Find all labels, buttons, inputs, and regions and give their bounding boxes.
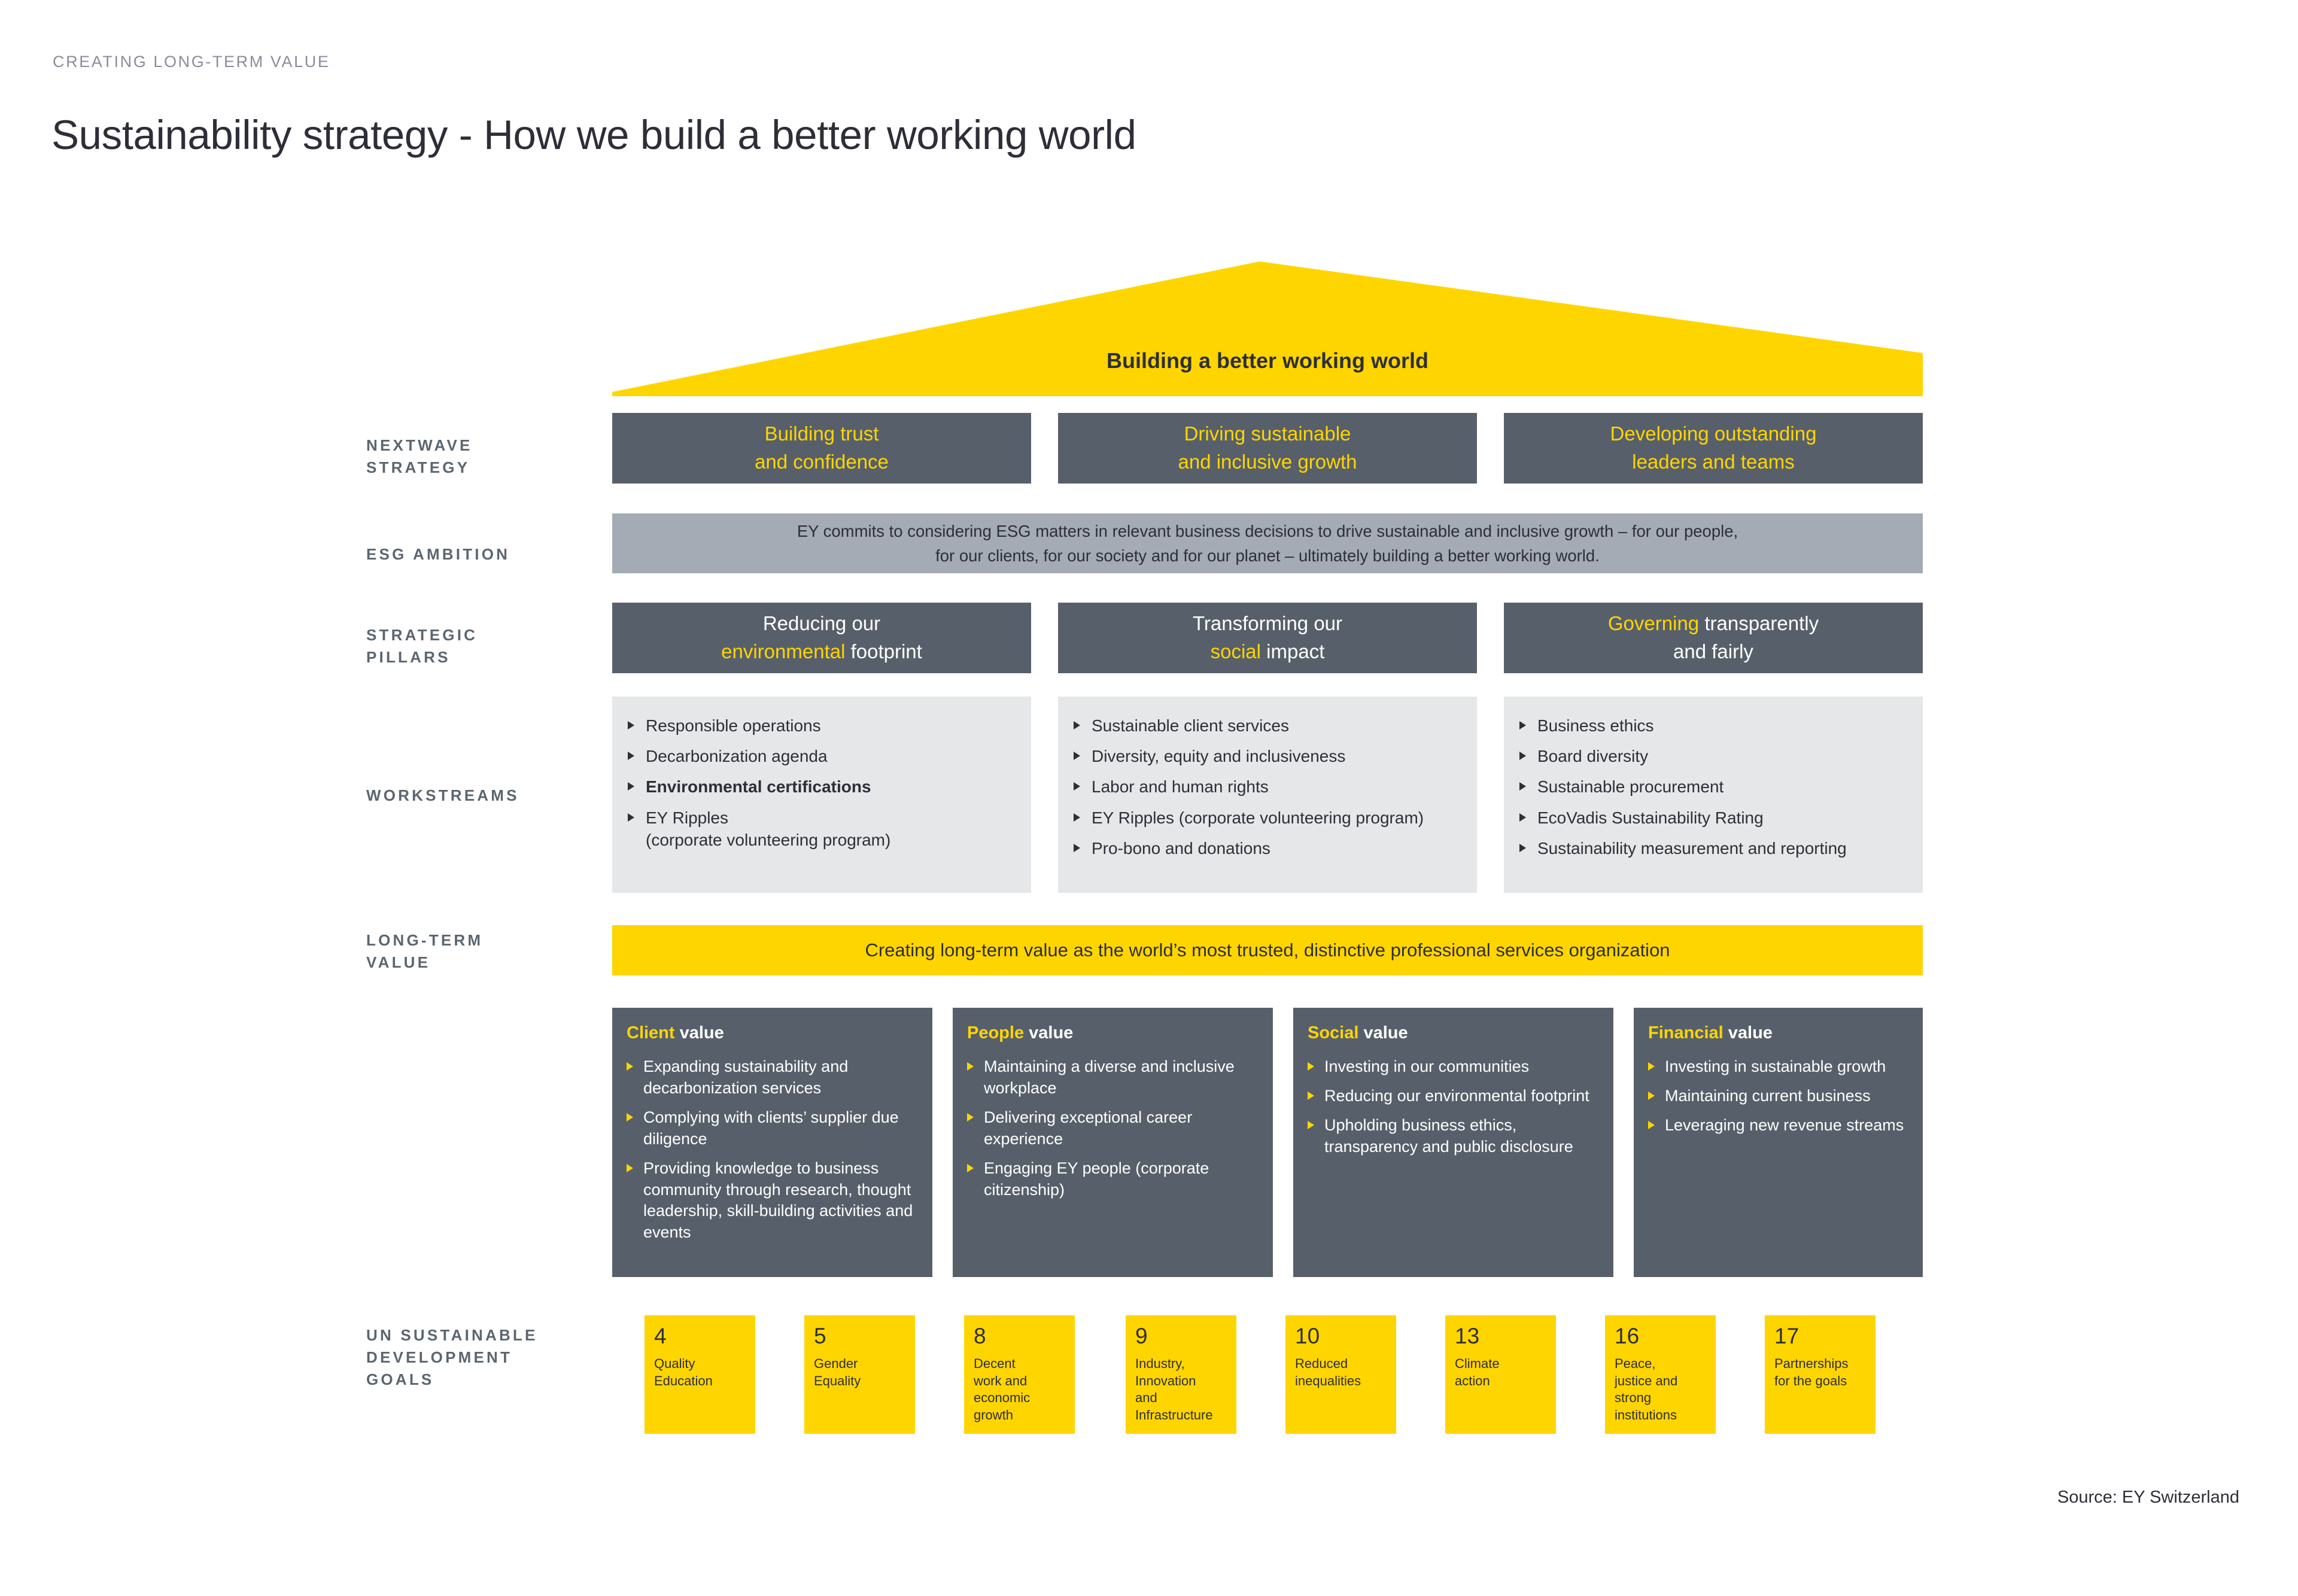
value-item-label: Investing in sustainable growth <box>1665 1057 1886 1075</box>
value-item-label: Maintaining current business <box>1665 1087 1871 1105</box>
value-card-people[interactable]: People value Maintaining a diverse and i… <box>953 1008 1273 1277</box>
sdg-label: Partnerships for the goals <box>1774 1355 1867 1390</box>
bullet-triangle-icon <box>967 1113 974 1121</box>
bullet-triangle-icon <box>1074 813 1080 822</box>
nextwave-box-2-line1: Driving sustainable <box>1184 422 1351 445</box>
value-card-client[interactable]: Client value Expanding sustainability an… <box>612 1008 932 1277</box>
bullet-triangle-icon <box>628 813 634 822</box>
value-card-client-suffix: value <box>675 1023 724 1042</box>
sdg-number: 8 <box>974 1325 1066 1347</box>
workstream-item[interactable]: Decarbonization agenda <box>628 745 1016 767</box>
workstream-item[interactable]: Board diversity <box>1519 745 1907 767</box>
bullet-triangle-icon <box>1308 1092 1314 1100</box>
bullet-triangle-icon <box>1519 782 1526 791</box>
value-item-label: Reducing our environmental footprint <box>1324 1087 1589 1105</box>
nextwave-box-1-line2: and confidence <box>755 451 889 473</box>
sdg-tile-4[interactable]: 4 Quality Education <box>645 1315 755 1434</box>
workstream-item[interactable]: Business ethics <box>1519 715 1907 737</box>
strategic-pillar-1[interactable]: Reducing our environmental footprint <box>612 603 1031 673</box>
sdg-tile-5[interactable]: 5 Gender Equality <box>804 1315 915 1434</box>
pillar-2-line1: Transforming our <box>1193 612 1342 634</box>
bullet-triangle-icon <box>1074 721 1080 729</box>
list-item: Investing in sustainable growth <box>1648 1056 1908 1078</box>
bullet-triangle-icon <box>1308 1062 1314 1071</box>
value-item-label: Expanding sustainability and decarboniza… <box>643 1057 848 1097</box>
value-card-client-list: Expanding sustainability and decarboniza… <box>627 1056 918 1244</box>
value-card-financial-title: Financial value <box>1648 1023 1908 1043</box>
value-card-people-key: People <box>967 1023 1024 1042</box>
bullet-triangle-icon <box>1519 752 1526 760</box>
workstream-label: EcoVadis Sustainability Rating <box>1537 808 1764 827</box>
value-card-financial[interactable]: Financial value Investing in sustainable… <box>1634 1008 1923 1277</box>
strategic-pillar-2[interactable]: Transforming our social impact <box>1058 603 1477 673</box>
workstream-label: Pro-bono and donations <box>1092 839 1270 858</box>
bullet-triangle-icon <box>627 1062 633 1071</box>
roof-shape: Building a better working world <box>612 257 1923 396</box>
workstream-item[interactable]: EY Ripples (corporate volunteering progr… <box>628 807 1016 851</box>
bullet-triangle-icon <box>628 721 634 729</box>
value-card-financial-key: Financial <box>1648 1023 1723 1042</box>
list-item: Providing knowledge to business communit… <box>627 1158 918 1244</box>
bullet-triangle-icon <box>1648 1092 1655 1100</box>
sdg-label: Decent work and economic growth <box>974 1355 1066 1424</box>
sdg-label: Reduced inequalities <box>1295 1355 1388 1390</box>
value-card-financial-suffix: value <box>1723 1023 1773 1042</box>
list-item: Delivering exceptional career experience <box>967 1107 1259 1150</box>
value-card-people-suffix: value <box>1024 1023 1073 1042</box>
workstreams-column-3: Business ethics Board diversity Sustaina… <box>1504 697 1923 893</box>
bullet-triangle-icon <box>1074 782 1080 791</box>
bullet-triangle-icon <box>627 1164 633 1172</box>
sdg-tile-17[interactable]: 17 Partnerships for the goals <box>1765 1315 1876 1434</box>
sdg-label: Peace, justice and strong institutions <box>1615 1355 1707 1424</box>
row-label-nextwave-strategy: NEXTWAVE STRATEGY <box>366 434 606 479</box>
workstream-label: Sustainable client services <box>1092 716 1289 735</box>
workstreams-list-3: Business ethics Board diversity Sustaina… <box>1519 715 1907 859</box>
long-term-value-text: Creating long-term value as the world’s … <box>612 925 1923 975</box>
value-card-client-key: Client <box>627 1023 675 1042</box>
workstream-item[interactable]: Diversity, equity and inclusiveness <box>1074 745 1461 767</box>
pillar-2-highlight: social <box>1211 640 1261 662</box>
bullet-triangle-icon <box>1519 721 1526 729</box>
workstreams-column-2: Sustainable client services Diversity, e… <box>1058 697 1477 893</box>
workstream-item[interactable]: Labor and human rights <box>1074 776 1461 798</box>
bullet-triangle-icon <box>967 1164 974 1172</box>
value-card-social-list: Investing in our communities Reducing ou… <box>1308 1056 1599 1158</box>
row-label-un-sdg: UN SUSTAINABLE DEVELOPMENT GOALS <box>366 1324 606 1391</box>
bullet-triangle-icon <box>1519 813 1526 822</box>
bullet-triangle-icon <box>628 782 634 791</box>
workstream-item[interactable]: Sustainability measurement and reporting <box>1519 837 1907 859</box>
nextwave-box-2[interactable]: Driving sustainable and inclusive growth <box>1058 413 1477 484</box>
workstream-item[interactable]: Environmental certifications <box>628 776 1016 798</box>
value-card-client-title: Client value <box>627 1023 918 1043</box>
workstreams-list-1: Responsible operations Decarbonization a… <box>628 715 1016 851</box>
workstream-label: Board diversity <box>1537 747 1648 765</box>
list-item: Reducing our environmental footprint <box>1308 1086 1599 1107</box>
value-card-social-suffix: value <box>1358 1023 1408 1042</box>
roof-polygon-main <box>612 262 1923 396</box>
sdg-number: 10 <box>1295 1325 1388 1347</box>
nextwave-box-3[interactable]: Developing outstanding leaders and teams <box>1504 413 1923 484</box>
sdg-tile-8[interactable]: 8 Decent work and economic growth <box>964 1315 1075 1434</box>
workstream-item[interactable]: Sustainable procurement <box>1519 776 1907 798</box>
value-card-social-key: Social <box>1308 1023 1358 1042</box>
esg-ambition-line2: for our clients, for our society and for… <box>935 546 1600 565</box>
value-item-label: Leveraging new revenue streams <box>1665 1116 1904 1134</box>
sdg-label: Industry, Innovation and Infrastructure <box>1135 1355 1228 1424</box>
workstream-item[interactable]: EcoVadis Sustainability Rating <box>1519 807 1907 829</box>
sdg-tile-10[interactable]: 10 Reduced inequalities <box>1285 1315 1396 1434</box>
pillar-1-highlight: environmental <box>721 640 845 662</box>
workstream-label: Responsible operations <box>646 716 821 735</box>
workstreams-list-2: Sustainable client services Diversity, e… <box>1074 715 1461 859</box>
row-label-long-term-value: LONG-TERM VALUE <box>366 929 606 974</box>
pillar-3-line2: and fairly <box>1673 640 1753 662</box>
bullet-triangle-icon <box>1074 752 1080 760</box>
nextwave-box-1[interactable]: Building trust and confidence <box>612 413 1031 484</box>
value-item-label: Maintaining a diverse and inclusive work… <box>984 1057 1235 1097</box>
workstream-label: EY Ripples (corporate volunteering progr… <box>646 808 890 849</box>
value-card-social-title: Social value <box>1308 1023 1599 1043</box>
workstream-item[interactable]: Responsible operations <box>628 715 1016 737</box>
bullet-triangle-icon <box>1074 844 1080 852</box>
bullet-triangle-icon <box>967 1062 974 1071</box>
workstream-label: Labor and human rights <box>1092 777 1269 796</box>
sdg-tile-16[interactable]: 16 Peace, justice and strong institution… <box>1605 1315 1716 1434</box>
row-label-esg-ambition: ESG AMBITION <box>366 543 606 566</box>
workstream-item[interactable]: Sustainable client services <box>1074 715 1461 737</box>
list-item: Expanding sustainability and decarboniza… <box>627 1056 918 1099</box>
bullet-triangle-icon <box>1308 1121 1314 1129</box>
workstream-label: EY Ripples (corporate volunteering progr… <box>1092 808 1424 827</box>
workstream-label: Business ethics <box>1537 716 1654 735</box>
list-item: Maintaining a diverse and inclusive work… <box>967 1056 1259 1099</box>
list-item: Engaging EY people (corporate citizenshi… <box>967 1158 1259 1201</box>
sdg-number: 16 <box>1615 1325 1707 1347</box>
workstream-label: Sustainable procurement <box>1537 777 1723 796</box>
value-item-label: Investing in our communities <box>1324 1057 1529 1075</box>
pillar-1-line2: footprint <box>845 640 922 662</box>
pillar-2-line2: impact <box>1261 640 1324 662</box>
sdg-tile-9[interactable]: 9 Industry, Innovation and Infrastructur… <box>1126 1315 1236 1434</box>
list-item: Maintaining current business <box>1648 1086 1908 1107</box>
list-item: Complying with clients’ supplier due dil… <box>627 1107 918 1150</box>
bullet-triangle-icon <box>1648 1121 1655 1129</box>
sdg-tile-13[interactable]: 13 Climate action <box>1445 1315 1556 1434</box>
row-label-strategic-pillars: STRATEGIC PILLARS <box>366 624 606 668</box>
workstreams-column-1: Responsible operations Decarbonization a… <box>612 697 1031 893</box>
value-item-label: Delivering exceptional career experience <box>984 1108 1192 1148</box>
pillar-3-highlight: Governing <box>1608 612 1699 634</box>
value-item-label: Upholding business ethics, transparency … <box>1324 1116 1573 1156</box>
value-card-people-list: Maintaining a diverse and inclusive work… <box>967 1056 1259 1200</box>
strategic-pillar-3[interactable]: Governing transparently and fairly <box>1504 603 1923 673</box>
sdg-label: Climate action <box>1455 1355 1548 1390</box>
value-item-label: Providing knowledge to business communit… <box>643 1159 913 1242</box>
sdg-label: Gender Equality <box>814 1355 907 1390</box>
workstream-label: Decarbonization agenda <box>646 747 828 765</box>
nextwave-box-3-line1: Developing outstanding <box>1610 422 1817 445</box>
workstream-label: Diversity, equity and inclusiveness <box>1092 747 1345 765</box>
sdg-number: 17 <box>1774 1325 1867 1347</box>
bullet-triangle-icon <box>1648 1062 1655 1071</box>
workstream-item[interactable]: Pro-bono and donations <box>1074 837 1461 859</box>
value-item-label: Complying with clients’ supplier due dil… <box>643 1108 899 1148</box>
sdg-label: Quality Education <box>654 1355 747 1390</box>
nextwave-box-3-line2: leaders and teams <box>1632 451 1795 473</box>
row-label-workstreams: WORKSTREAMS <box>366 785 606 807</box>
value-card-social[interactable]: Social value Investing in our communitie… <box>1293 1008 1613 1277</box>
workstream-item[interactable]: EY Ripples (corporate volunteering progr… <box>1074 807 1461 829</box>
nextwave-box-1-line1: Building trust <box>765 422 879 445</box>
esg-ambition-band: EY commits to considering ESG matters in… <box>612 513 1923 573</box>
sdg-number: 5 <box>814 1325 907 1347</box>
bullet-triangle-icon <box>627 1113 633 1121</box>
pillar-3-line1: transparently <box>1699 612 1819 634</box>
workstream-label: Environmental certifications <box>646 777 871 796</box>
bullet-triangle-icon <box>1519 844 1526 852</box>
value-card-financial-list: Investing in sustainable growth Maintain… <box>1648 1056 1908 1136</box>
value-card-people-title: People value <box>967 1023 1259 1043</box>
pillar-1-line1: Reducing our <box>763 612 880 634</box>
workstream-label: Sustainability measurement and reporting <box>1537 839 1847 858</box>
value-item-label: Engaging EY people (corporate citizenshi… <box>984 1159 1209 1199</box>
bullet-triangle-icon <box>628 752 634 760</box>
roof-title: Building a better working world <box>612 348 1923 373</box>
strategy-house-diagram: NEXTWAVE STRATEGY ESG AMBITION STRATEGIC… <box>0 0 2298 1596</box>
long-term-value-band: Creating long-term value as the world’s … <box>612 925 1923 975</box>
nextwave-box-2-line2: and inclusive growth <box>1178 451 1357 473</box>
sdg-number: 4 <box>654 1325 747 1347</box>
sdg-number: 9 <box>1135 1325 1228 1347</box>
sdg-number: 13 <box>1455 1325 1548 1347</box>
list-item: Upholding business ethics, transparency … <box>1308 1115 1599 1158</box>
source-note: Source: EY Switzerland <box>2057 1488 2239 1507</box>
list-item: Leveraging new revenue streams <box>1648 1115 1908 1136</box>
list-item: Investing in our communities <box>1308 1056 1599 1078</box>
esg-ambition-line1: EY commits to considering ESG matters in… <box>797 522 1738 540</box>
